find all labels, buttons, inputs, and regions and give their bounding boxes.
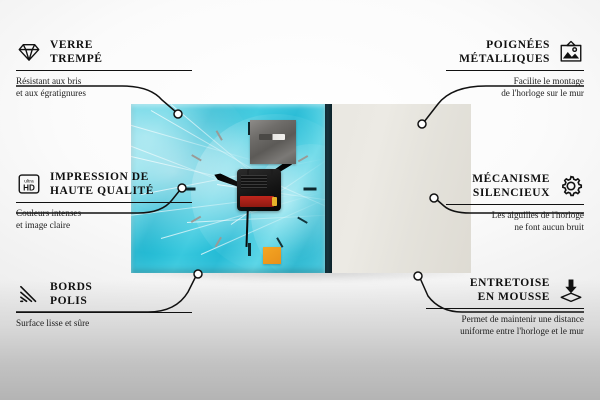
callout-desc-line1: Les aiguilles de l'horloge <box>492 210 584 220</box>
callout-poignees-metalliques[interactable]: POIGNÉES MÉTALLIQUES Facilite le montage… <box>408 38 584 99</box>
callout-title-line2: HAUTE QUALITÉ <box>50 185 154 197</box>
callout-entretoise-en-mousse[interactable]: ENTRETOISE EN MOUSSE Permet de maintenir… <box>396 276 584 337</box>
callout-title-line1: POIGNÉES <box>486 39 550 51</box>
callout-rule <box>16 70 192 71</box>
callout-title-line2: POLIS <box>50 295 87 307</box>
callout-desc-line1: Résistant aux bris <box>16 76 81 86</box>
callout-title-line1: MÉCANISME <box>472 173 550 185</box>
foam-spacer <box>263 247 281 264</box>
callout-title-line1: VERRE <box>50 39 93 51</box>
polished-edges-icon <box>16 281 42 307</box>
svg-text:HD: HD <box>23 184 35 193</box>
callout-verre-trempe[interactable]: VERRE TREMPÉ Résistant aux bris et aux é… <box>16 38 192 99</box>
callout-title-line1: IMPRESSION DE <box>50 171 149 183</box>
callout-title-line2: SILENCIEUX <box>473 187 550 199</box>
ultra-hd-icon: ultra HD <box>16 171 42 197</box>
infographic-canvas: VERRE TREMPÉ Résistant aux bris et aux é… <box>0 0 600 400</box>
diamond-icon <box>16 39 42 65</box>
gear-icon <box>558 173 584 199</box>
callout-desc-line2: uniforme entre l'horloge et le mur <box>460 326 584 336</box>
callout-title-line2: MÉTALLIQUES <box>459 53 550 65</box>
callout-desc-line2: et image claire <box>16 220 70 230</box>
callout-desc-line1: Facilite le montage <box>514 76 584 86</box>
callout-title-line1: BORDS <box>50 281 92 293</box>
callout-title-line2: TREMPÉ <box>50 53 103 65</box>
callout-rule <box>426 308 584 309</box>
callout-bords-polis[interactable]: BORDS POLIS Surface lisse et sûre <box>16 280 192 329</box>
callout-impression-haute-qualite[interactable]: ultra HD IMPRESSION DE HAUTE QUALITÉ Cou… <box>16 170 192 231</box>
callout-desc-line1: Couleurs intenses <box>16 208 81 218</box>
callout-desc-line2: de l'horloge sur le mur <box>501 88 584 98</box>
callout-rule <box>16 202 192 203</box>
callout-title-line1: ENTRETOISE <box>470 277 550 289</box>
callout-rule <box>446 204 584 205</box>
picture-hanger-icon <box>558 39 584 65</box>
callout-rule <box>446 70 584 71</box>
panel-edge <box>325 104 332 273</box>
callout-mecanisme-silencieux[interactable]: MÉCANISME SILENCIEUX Les aiguilles de l'… <box>408 172 584 233</box>
metal-hanger-plate <box>250 120 296 164</box>
callout-rule <box>16 312 192 313</box>
callout-desc-line2: ne font aucun bruit <box>514 222 584 232</box>
foam-spacer-icon <box>558 277 584 303</box>
callout-desc-line1: Permet de maintenir une distance <box>462 314 584 324</box>
callout-desc-line2: et aux égratignures <box>16 88 86 98</box>
clock-mechanism <box>237 169 281 211</box>
callout-desc-line1: Surface lisse et sûre <box>16 318 89 328</box>
callout-title-line2: EN MOUSSE <box>478 291 550 303</box>
